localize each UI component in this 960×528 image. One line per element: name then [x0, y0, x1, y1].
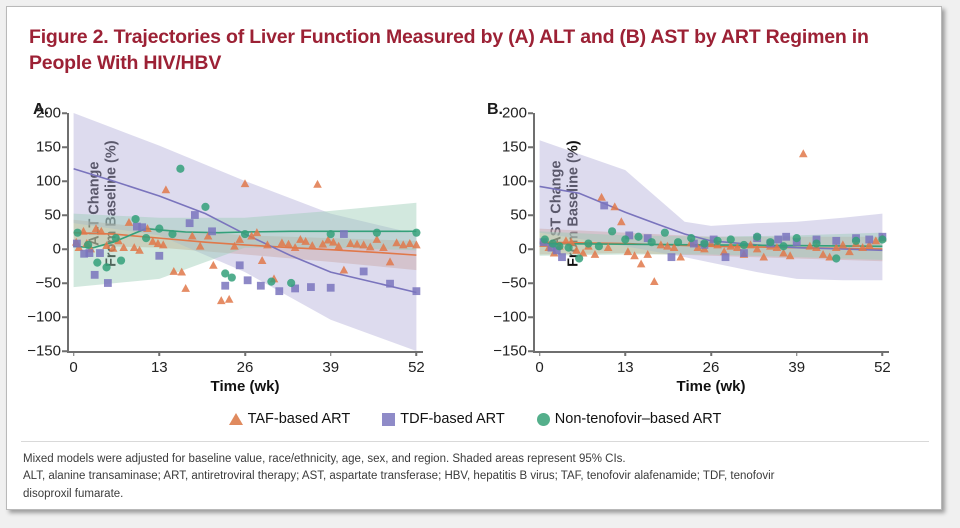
- y-tick-label: 100: [36, 173, 61, 190]
- panel-b-svg: [533, 113, 889, 351]
- data-point-circle: [267, 278, 275, 286]
- data-point-circle: [541, 235, 549, 243]
- data-point-circle: [674, 238, 682, 246]
- x-axis-label: Time (wk): [211, 378, 280, 395]
- data-point-circle: [327, 230, 335, 238]
- data-point-square: [774, 236, 782, 244]
- y-axis-line: [533, 113, 535, 351]
- data-point-circle: [812, 239, 820, 247]
- footnote-line-1: Mixed models were adjusted for baseline …: [23, 451, 903, 468]
- data-point-square: [386, 280, 394, 288]
- data-point-square: [91, 271, 99, 279]
- data-point-square: [155, 252, 163, 260]
- data-point-circle: [595, 242, 603, 250]
- data-point-square: [86, 249, 94, 257]
- data-point-circle: [201, 203, 209, 211]
- x-tick-mark: [625, 351, 627, 356]
- y-tick-mark: [528, 316, 533, 318]
- legend-item-taf: TAF-based ART: [229, 411, 351, 427]
- data-point-circle: [713, 237, 721, 245]
- x-tick-mark: [796, 351, 798, 356]
- panel-a-svg: [67, 113, 423, 351]
- y-axis-line: [67, 113, 69, 351]
- chart-panel-a: A. ALT Change From Baseline (%) 20015010…: [17, 99, 477, 399]
- data-point-triangle: [181, 284, 190, 292]
- data-point-circle: [131, 215, 139, 223]
- x-axis-label: Time (wk): [677, 378, 746, 395]
- data-point-triangle: [217, 296, 226, 304]
- data-point-square: [340, 230, 348, 238]
- x-tick-mark: [330, 351, 332, 356]
- y-tick-mark: [62, 248, 67, 250]
- footnote-line-2: ALT, alanine transaminase; ART, antiretr…: [23, 468, 903, 485]
- data-point-square: [413, 287, 421, 295]
- legend-label-non-tenofovir: Non-tenofovir–based ART: [555, 411, 722, 427]
- panel-b-plot-area: 200150100500−50−100−150013263952Time (wk…: [533, 113, 889, 351]
- data-point-square: [782, 233, 790, 241]
- panel-a-plot-area: 200150100500−50−100−150013263952Time (wk…: [67, 113, 423, 351]
- data-point-square: [221, 282, 229, 290]
- y-tick-label: 0: [519, 241, 527, 258]
- y-tick-label: −50: [36, 275, 61, 292]
- x-tick-mark: [882, 351, 884, 356]
- y-tick-mark: [528, 146, 533, 148]
- data-point-circle: [832, 254, 840, 262]
- data-point-circle: [621, 235, 629, 243]
- y-tick-mark: [528, 214, 533, 216]
- footnote-line-3: disoproxil fumarate.: [23, 486, 903, 503]
- data-point-triangle: [637, 259, 646, 267]
- data-point-circle: [176, 165, 184, 173]
- x-tick-label: 13: [151, 359, 168, 376]
- data-point-square: [600, 202, 608, 210]
- data-point-circle: [142, 234, 150, 242]
- y-tick-label: 200: [36, 105, 61, 122]
- data-point-circle: [779, 242, 787, 250]
- legend-item-tdf: TDF-based ART: [382, 411, 505, 427]
- x-tick-label: 39: [322, 359, 339, 376]
- data-point-square: [558, 253, 566, 261]
- data-point-square: [191, 211, 199, 219]
- data-point-circle: [112, 234, 120, 242]
- data-point-circle: [852, 237, 860, 245]
- figure-title: Figure 2. Trajectories of Liver Function…: [29, 25, 909, 76]
- data-point-circle: [228, 273, 236, 281]
- data-point-triangle: [225, 295, 234, 303]
- y-tick-label: 50: [510, 207, 527, 224]
- data-point-circle: [740, 241, 748, 249]
- y-tick-mark: [528, 112, 533, 114]
- y-tick-mark: [62, 146, 67, 148]
- y-tick-mark: [528, 248, 533, 250]
- data-point-circle: [373, 229, 381, 237]
- data-point-square: [865, 236, 873, 244]
- data-point-circle: [102, 263, 110, 271]
- data-point-circle: [84, 241, 92, 249]
- data-point-circle: [575, 254, 583, 262]
- circle-marker-icon: [537, 413, 550, 426]
- x-tick-label: 52: [874, 359, 891, 376]
- y-tick-mark: [62, 350, 67, 352]
- data-point-circle: [634, 233, 642, 241]
- x-tick-mark: [416, 351, 418, 356]
- data-point-square: [244, 276, 252, 284]
- data-point-circle: [287, 279, 295, 287]
- x-tick-label: 26: [703, 359, 720, 376]
- y-tick-label: 150: [502, 139, 527, 156]
- x-tick-label: 0: [535, 359, 543, 376]
- y-tick-label: 0: [53, 241, 61, 258]
- data-point-circle: [117, 256, 125, 264]
- data-point-circle: [73, 229, 81, 237]
- data-point-triangle: [799, 149, 808, 157]
- y-tick-label: 200: [502, 105, 527, 122]
- data-point-circle: [168, 230, 176, 238]
- y-tick-label: 50: [44, 207, 61, 224]
- data-point-circle: [793, 234, 801, 242]
- chart-legend: TAF-based ART TDF-based ART Non-tenofovi…: [7, 411, 942, 427]
- data-point-triangle: [209, 261, 218, 269]
- data-point-square: [307, 283, 315, 291]
- data-point-square: [722, 253, 730, 261]
- data-point-square: [104, 279, 112, 287]
- data-point-circle: [727, 235, 735, 243]
- footnote-divider: [21, 441, 929, 442]
- x-tick-mark: [159, 351, 161, 356]
- data-point-square: [275, 287, 283, 295]
- data-point-square: [236, 261, 244, 269]
- data-point-circle: [241, 230, 249, 238]
- y-tick-mark: [528, 282, 533, 284]
- data-point-circle: [766, 238, 774, 246]
- data-point-circle: [661, 229, 669, 237]
- data-point-circle: [412, 229, 420, 237]
- panel-b-letter: B.: [487, 101, 503, 119]
- y-tick-label: −100: [493, 309, 527, 326]
- x-tick-mark: [710, 351, 712, 356]
- x-tick-label: 0: [69, 359, 77, 376]
- legend-item-non-tenofovir: Non-tenofovir–based ART: [537, 411, 722, 427]
- y-tick-mark: [62, 180, 67, 182]
- y-tick-mark: [528, 350, 533, 352]
- data-point-circle: [878, 235, 886, 243]
- y-tick-label: 100: [502, 173, 527, 190]
- x-tick-mark: [73, 351, 75, 356]
- data-point-square: [96, 249, 104, 257]
- x-tick-label: 13: [617, 359, 634, 376]
- legend-label-tdf: TDF-based ART: [400, 411, 505, 427]
- data-point-square: [186, 219, 194, 227]
- triangle-marker-icon: [229, 413, 243, 425]
- y-tick-mark: [62, 282, 67, 284]
- data-point-circle: [608, 227, 616, 235]
- chart-panel-b: B. AST Change From Baseline (%) 20015010…: [477, 99, 937, 399]
- data-point-square: [208, 227, 216, 235]
- figure-card: Figure 2. Trajectories of Liver Function…: [6, 6, 942, 510]
- data-point-square: [740, 249, 748, 257]
- square-marker-icon: [382, 413, 395, 426]
- data-point-circle: [565, 244, 573, 252]
- data-point-square: [360, 268, 368, 276]
- x-tick-label: 26: [237, 359, 254, 376]
- x-tick-mark: [539, 351, 541, 356]
- data-point-triangle: [313, 180, 322, 188]
- data-point-circle: [753, 233, 761, 241]
- data-point-square: [257, 282, 265, 290]
- data-point-triangle: [650, 277, 659, 285]
- data-point-circle: [700, 239, 708, 247]
- y-tick-label: −100: [27, 309, 61, 326]
- y-tick-mark: [62, 112, 67, 114]
- x-tick-label: 52: [408, 359, 425, 376]
- data-point-square: [138, 223, 146, 231]
- legend-label-taf: TAF-based ART: [248, 411, 351, 427]
- data-point-square: [327, 284, 335, 292]
- data-point-circle: [648, 238, 656, 246]
- y-tick-mark: [528, 180, 533, 182]
- data-point-square: [832, 237, 840, 245]
- x-tick-mark: [244, 351, 246, 356]
- data-point-square: [73, 240, 81, 248]
- data-point-square: [668, 253, 676, 261]
- data-point-circle: [93, 259, 101, 267]
- y-tick-label: −150: [493, 343, 527, 360]
- y-tick-mark: [62, 316, 67, 318]
- x-tick-label: 39: [788, 359, 805, 376]
- y-tick-label: 150: [36, 139, 61, 156]
- y-tick-label: −50: [502, 275, 527, 292]
- y-tick-label: −150: [27, 343, 61, 360]
- data-point-circle: [584, 239, 592, 247]
- data-point-circle: [687, 234, 695, 242]
- y-tick-mark: [62, 214, 67, 216]
- figure-footnote: Mixed models were adjusted for baseline …: [23, 451, 903, 503]
- data-point-circle: [155, 225, 163, 233]
- data-point-circle: [555, 242, 563, 250]
